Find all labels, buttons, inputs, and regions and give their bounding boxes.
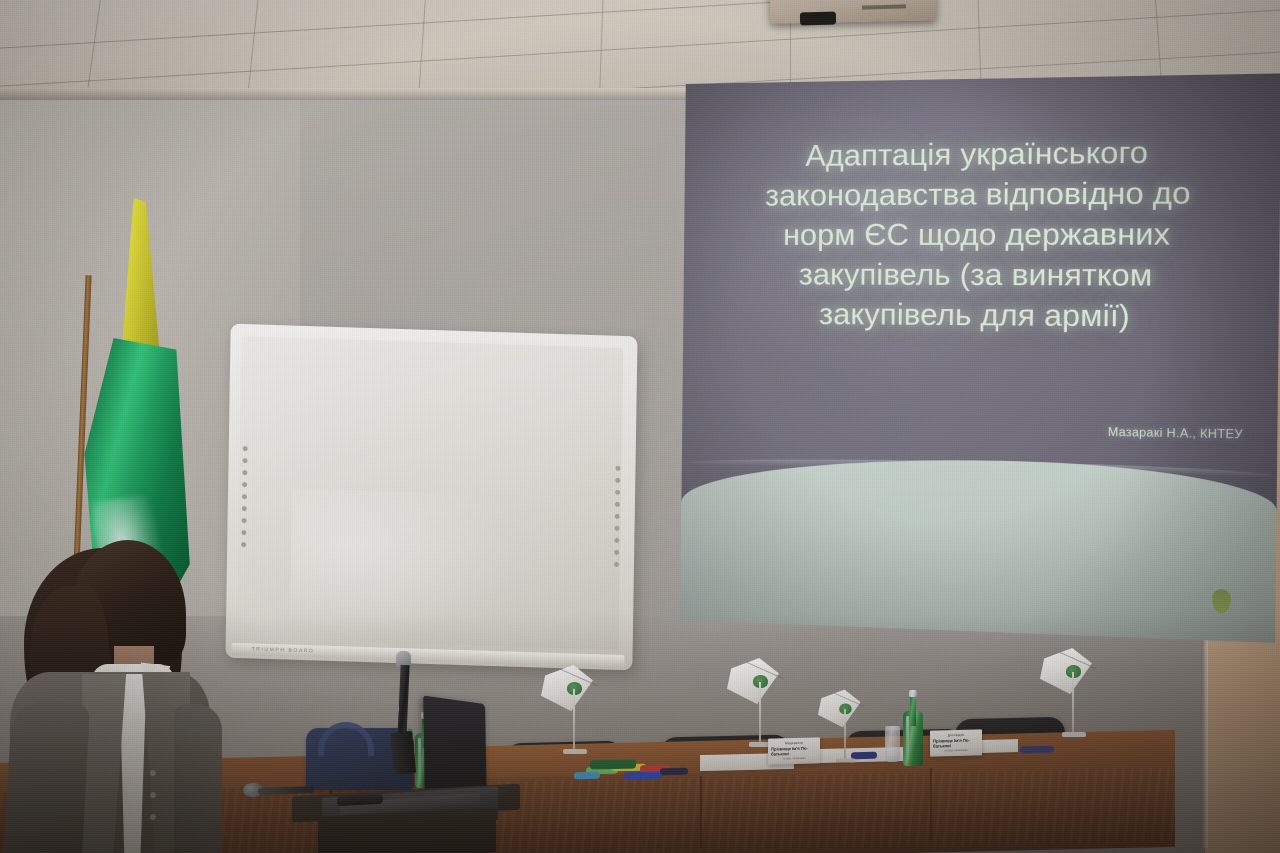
whiteboard-button[interactable] (615, 478, 620, 483)
whiteboard-button[interactable] (615, 466, 620, 471)
ceiling-projector (770, 0, 937, 24)
slide-title-line-4: закупівель (за винятком (717, 255, 1241, 296)
whiteboard-button[interactable] (242, 470, 247, 475)
whiteboard-button[interactable] (241, 518, 246, 523)
whiteboard-button[interactable] (241, 506, 246, 511)
lower-room-shadow (0, 613, 1280, 853)
whiteboard-button[interactable] (614, 502, 619, 507)
whiteboard-button[interactable] (615, 490, 620, 495)
whiteboard-button[interactable] (613, 562, 618, 567)
slide-title-line-5: закупівель для армії) (717, 294, 1241, 338)
whiteboard-button[interactable] (241, 494, 246, 499)
whiteboard-button[interactable] (242, 446, 247, 451)
whiteboard-button[interactable] (614, 526, 619, 531)
whiteboard-surface[interactable] (237, 336, 624, 650)
whiteboard-button[interactable] (242, 458, 247, 463)
whiteboard-button[interactable] (614, 538, 619, 543)
presentation-photo-scene: Адаптація українського законодавства від… (0, 0, 1280, 853)
whiteboard-button[interactable] (241, 530, 246, 535)
whiteboard-button[interactable] (614, 514, 619, 519)
whiteboard-button[interactable] (242, 482, 247, 487)
leaf-droplet-icon (1212, 589, 1232, 614)
slide-title: Адаптація українського законодавства від… (717, 131, 1243, 337)
slide-title-line-2: законодавства відповідно до (718, 172, 1242, 215)
whiteboard-button-strip-left[interactable] (239, 446, 249, 547)
slide-author-attribution: Мазаракі Н.А., КНТЕУ (1108, 426, 1243, 441)
whiteboard-button[interactable] (241, 542, 246, 547)
projector-lens-icon (800, 12, 836, 26)
whiteboard-button-strip-right[interactable] (612, 466, 622, 567)
projected-slide: Адаптація українського законодавства від… (680, 73, 1280, 643)
whiteboard-button[interactable] (614, 550, 619, 555)
slide-title-line-1: Адаптація українського (719, 131, 1243, 176)
slide-title-line-3: норм ЄС щодо державних (718, 213, 1242, 254)
